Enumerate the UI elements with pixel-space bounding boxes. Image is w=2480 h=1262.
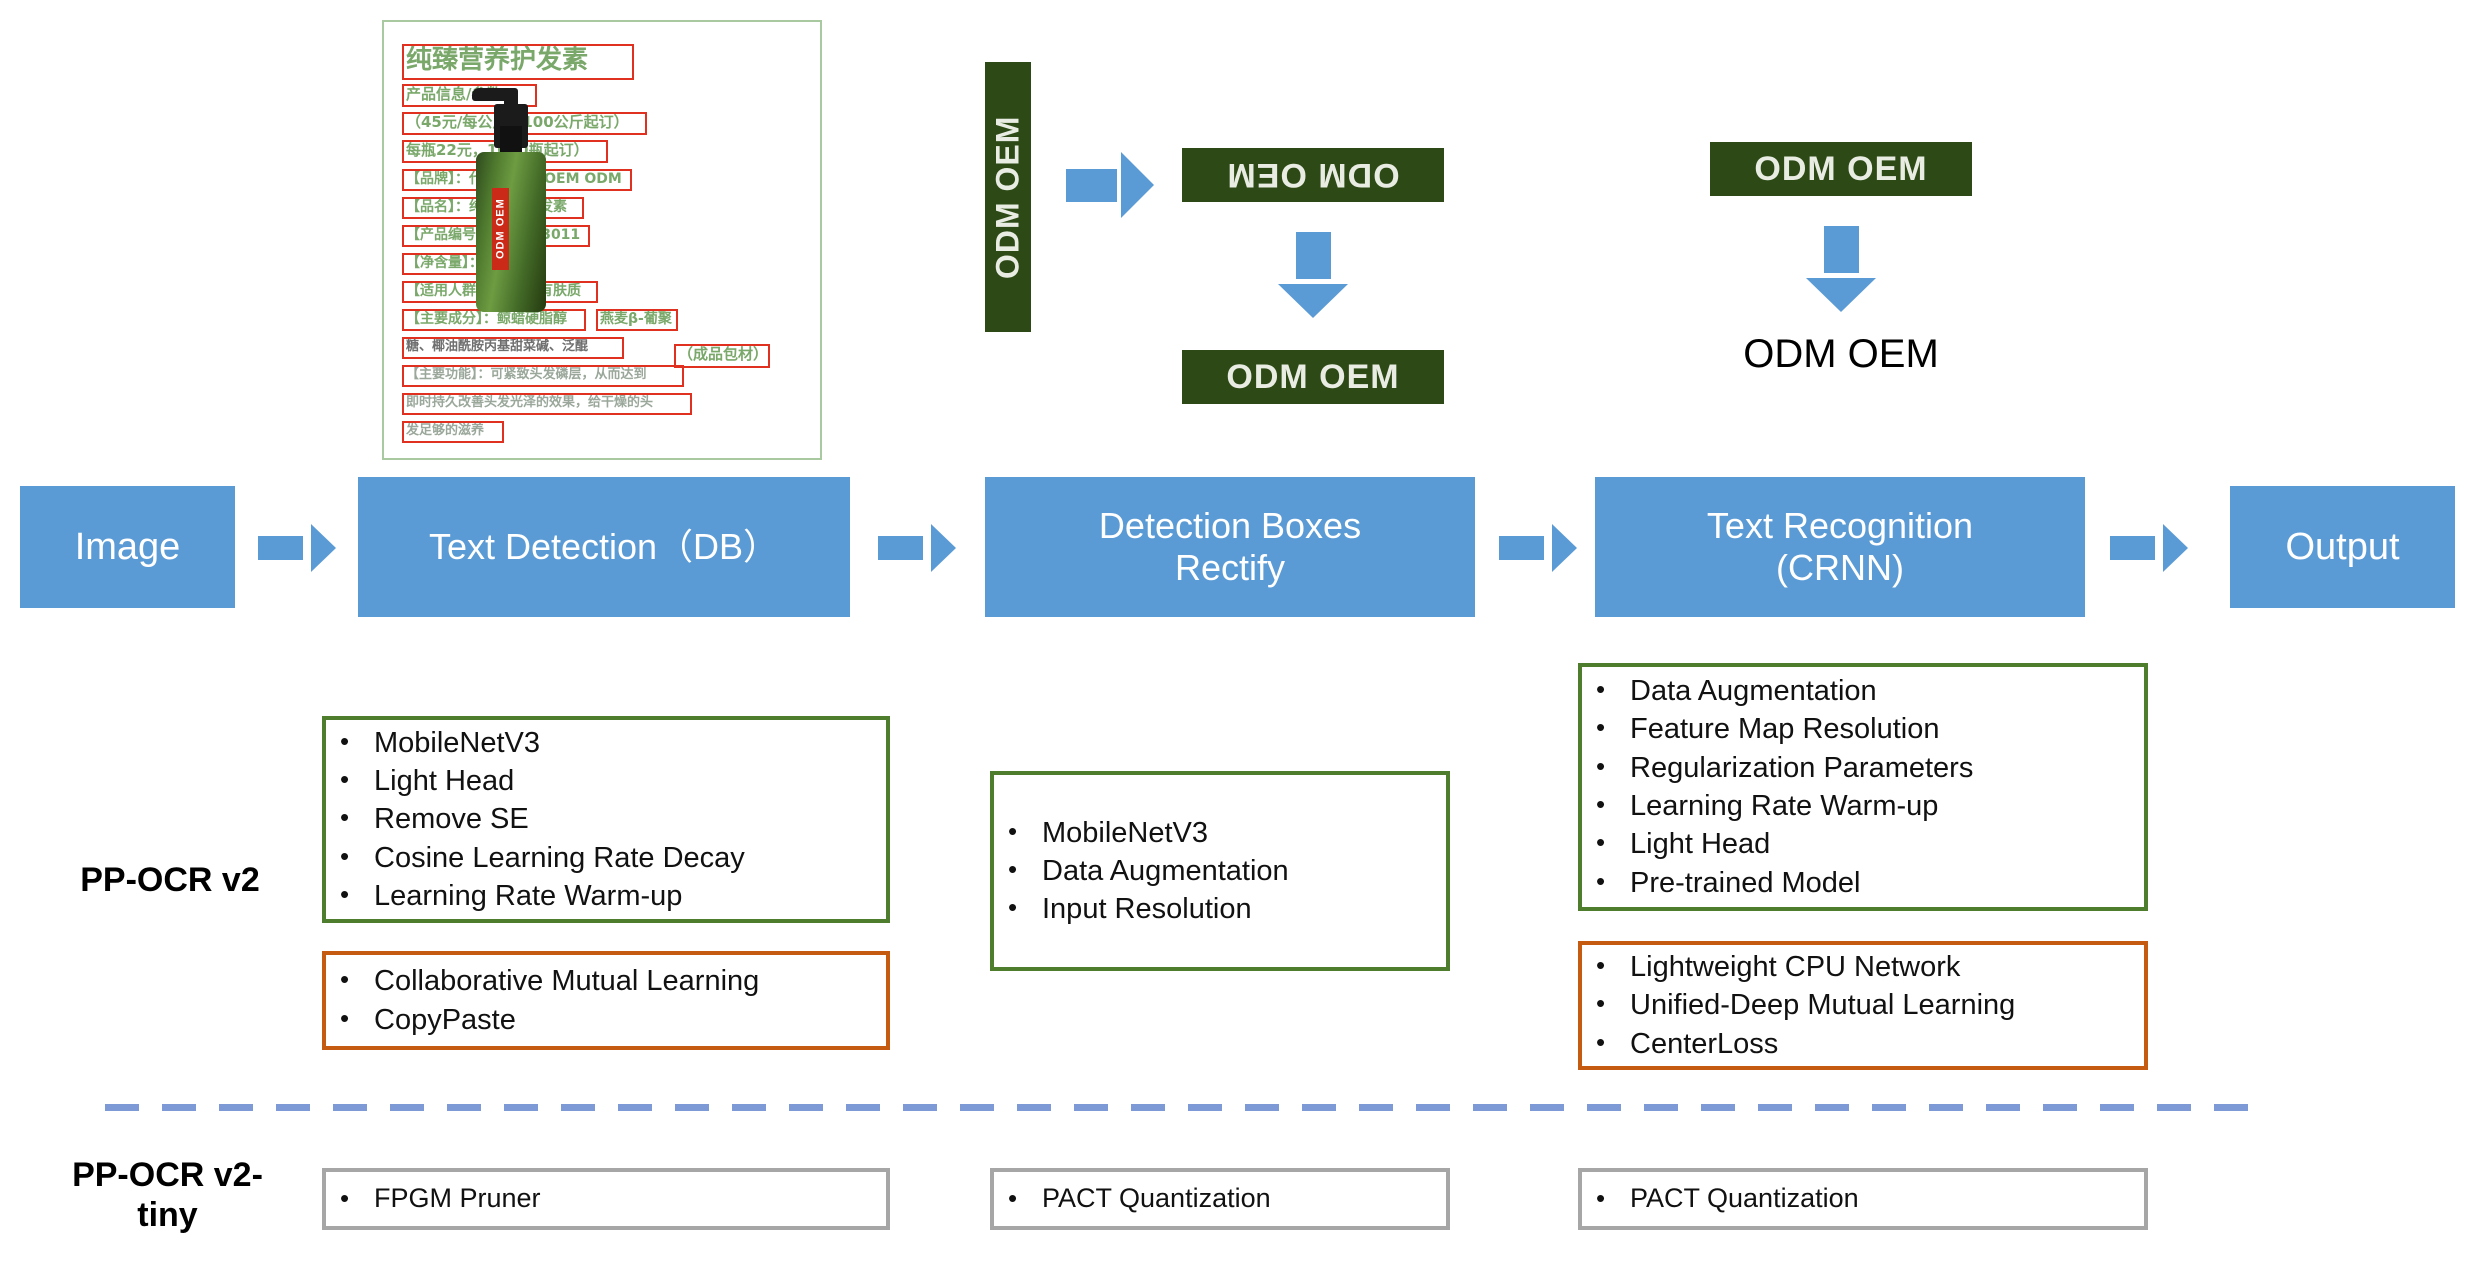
arrow-head	[1121, 152, 1154, 218]
strategy-item-label: Data Augmentation	[1630, 672, 1877, 710]
arrow-shaft	[1296, 232, 1331, 279]
strategy-item-label: Light Head	[374, 762, 514, 800]
strategy-box-recognition-green: •Data Augmentation•Feature Map Resolutio…	[1578, 663, 2148, 911]
bullet-icon: •	[1596, 710, 1630, 746]
recognized-text-output: ODM OEM	[1706, 328, 1976, 380]
arrow-recognition-to-output	[2110, 524, 2188, 572]
pipeline-box-text-recognition[interactable]: Text Recognition (CRNN)	[1595, 477, 2085, 617]
strategy-list-item: •CenterLoss	[1596, 1025, 2128, 1063]
arrow-shaft	[258, 536, 303, 560]
bullet-icon: •	[340, 724, 374, 760]
crop-flipped-odm-oem: ODM OEM	[1182, 148, 1444, 202]
bullet-icon: •	[1008, 890, 1042, 926]
bullet-icon: •	[340, 800, 374, 836]
strategy-list-item: •Light Head	[1596, 825, 2128, 863]
strategy-list-item: •Data Augmentation	[1596, 672, 2128, 710]
arrow-head	[2163, 524, 2188, 572]
strategy-list-item: •Unified-Deep Mutual Learning	[1596, 986, 2128, 1024]
arrow-shaft	[2110, 536, 2155, 560]
strategy-item-label: Lightweight CPU Network	[1630, 948, 1960, 986]
pipeline-box-rectify-line2: Rectify	[1099, 547, 1361, 589]
strategy-list: •Data Augmentation•Feature Map Resolutio…	[1596, 672, 2128, 902]
strategy-list: •FPGM Pruner	[340, 1181, 870, 1217]
strategy-item-label: MobileNetV3	[374, 724, 540, 762]
bullet-icon: •	[1596, 1025, 1630, 1061]
bullet-icon: •	[340, 877, 374, 913]
strategy-list-item: •Data Augmentation	[1008, 852, 1430, 890]
bullet-icon: •	[1008, 814, 1042, 850]
strategy-item-label: Feature Map Resolution	[1630, 710, 1940, 748]
ocr-detection-box: （成品包材）	[674, 344, 770, 368]
pipeline-box-image[interactable]: Image	[20, 486, 235, 608]
arrow-rectify-to-recognition	[1499, 524, 1577, 572]
product-bottle-illustration: ODM OEM	[464, 70, 556, 320]
crop-recognition-input-odm-oem: ODM OEM	[1710, 142, 1972, 196]
bullet-icon: •	[340, 962, 374, 998]
bullet-icon: •	[1596, 825, 1630, 861]
row-label-ppocr-v2: PP-OCR v2	[40, 860, 300, 900]
product-image-sample: 纯臻营养护发素产品信息/参数（45元/每公斤，100公斤起订）每瓶22元，100…	[382, 20, 822, 460]
arrow-shaft	[1499, 536, 1544, 560]
arrow-down-middle	[1278, 232, 1348, 318]
arrow-detection-to-rectify	[878, 524, 956, 572]
pipeline-box-recognition-line2: (CRNN)	[1707, 547, 1973, 589]
arrow-image-to-detection	[258, 524, 336, 572]
strategy-box-tiny-rectify: •PACT Quantization	[990, 1168, 1450, 1230]
strategy-list-item: •FPGM Pruner	[340, 1181, 870, 1217]
bottle-body	[476, 152, 546, 312]
strategy-box-recognition-orange: •Lightweight CPU Network•Unified-Deep Mu…	[1578, 941, 2148, 1070]
strategy-list-item: •CopyPaste	[340, 1001, 870, 1039]
strategy-list-item: •Input Resolution	[1008, 890, 1430, 928]
ocr-detection-box: 燕麦β-葡聚	[596, 309, 678, 331]
bullet-icon: •	[1596, 986, 1630, 1022]
strategy-list-item: •Remove SE	[340, 800, 870, 838]
bullet-icon: •	[340, 839, 374, 875]
bullet-icon: •	[1596, 1181, 1630, 1217]
strategy-list-item: •Regularization Parameters	[1596, 749, 2128, 787]
strategy-list: •MobileNetV3•Data Augmentation•Input Res…	[1008, 814, 1430, 929]
bullet-icon: •	[1596, 864, 1630, 900]
strategy-box-detection-green: •MobileNetV3•Light Head•Remove SE•Cosine…	[322, 716, 890, 923]
strategy-box-detection-orange: •Collaborative Mutual Learning•CopyPaste	[322, 951, 890, 1050]
bullet-icon: •	[340, 1181, 374, 1217]
bullet-icon: •	[340, 762, 374, 798]
bottle-neck	[500, 126, 522, 154]
strategy-item-label: Data Augmentation	[1042, 852, 1289, 890]
strategy-list-item: •Light Head	[340, 762, 870, 800]
arrow-shaft	[1066, 169, 1117, 202]
arrow-shaft	[878, 536, 923, 560]
strategy-list-item: •Cosine Learning Rate Decay	[340, 839, 870, 877]
arrow-down-right	[1806, 226, 1876, 312]
strategy-item-label: Pre-trained Model	[1630, 864, 1861, 902]
ocr-detection-box: 【主要功能】：可紧致头发磷层，从而达到	[402, 365, 684, 387]
strategy-list-item: •MobileNetV3	[340, 724, 870, 762]
strategy-box-rectify-green: •MobileNetV3•Data Augmentation•Input Res…	[990, 771, 1450, 971]
strategy-item-label: CenterLoss	[1630, 1025, 1778, 1063]
row-label-tiny-line2: tiny	[40, 1195, 295, 1235]
strategy-item-label: MobileNetV3	[1042, 814, 1208, 852]
arrow-head	[1806, 278, 1876, 312]
pipeline-box-detection-boxes-rectify[interactable]: Detection Boxes Rectify	[985, 477, 1475, 617]
bullet-icon: •	[340, 1001, 374, 1037]
crop-rectified-odm-oem: ODM OEM	[1182, 350, 1444, 404]
strategy-item-label: Cosine Learning Rate Decay	[374, 839, 745, 877]
strategy-list-item: •Learning Rate Warm-up	[1596, 787, 2128, 825]
strategy-list-item: •PACT Quantization	[1008, 1181, 1430, 1217]
row-label-ppocr-v2-tiny: PP-OCR v2- tiny	[40, 1155, 295, 1235]
strategy-list: •PACT Quantization	[1596, 1181, 2128, 1217]
strategy-list-item: •PACT Quantization	[1596, 1181, 2128, 1217]
arrow-right-rectify	[1066, 152, 1154, 218]
crop-vertical-odm-oem: ODM OEM	[985, 62, 1031, 332]
strategy-list: •PACT Quantization	[1008, 1181, 1430, 1217]
strategy-item-label: PACT Quantization	[1042, 1181, 1271, 1217]
ocr-detection-box: 即时持久改善头发光泽的效果，给干燥的头	[402, 393, 692, 415]
arrow-head	[1552, 524, 1577, 572]
strategy-item-label: CopyPaste	[374, 1001, 516, 1039]
pipeline-box-rectify-line1: Detection Boxes	[1099, 505, 1361, 547]
bullet-icon: •	[1596, 787, 1630, 823]
arrow-shaft	[1824, 226, 1859, 273]
bottle-label: ODM OEM	[492, 188, 509, 270]
strategy-list: •Collaborative Mutual Learning•CopyPaste	[340, 962, 870, 1039]
strategy-item-label: Unified-Deep Mutual Learning	[1630, 986, 2015, 1024]
pipeline-box-output[interactable]: Output	[2230, 486, 2455, 608]
pipeline-box-recognition-line1: Text Recognition	[1707, 505, 1973, 547]
strategy-box-tiny-detection: •FPGM Pruner	[322, 1168, 890, 1230]
strategy-list-item: •Feature Map Resolution	[1596, 710, 2128, 748]
bullet-icon: •	[1596, 749, 1630, 785]
strategy-list-item: •MobileNetV3	[1008, 814, 1430, 852]
strategy-item-label: Learning Rate Warm-up	[374, 877, 682, 915]
arrow-head	[931, 524, 956, 572]
strategy-list: •Lightweight CPU Network•Unified-Deep Mu…	[1596, 948, 2128, 1063]
strategy-item-label: Collaborative Mutual Learning	[374, 962, 759, 1000]
bullet-icon: •	[1596, 948, 1630, 984]
strategy-list-item: •Lightweight CPU Network	[1596, 948, 2128, 986]
bullet-icon: •	[1008, 1181, 1042, 1217]
strategy-item-label: Light Head	[1630, 825, 1770, 863]
strategy-list: •MobileNetV3•Light Head•Remove SE•Cosine…	[340, 724, 870, 915]
strategy-list-item: •Pre-trained Model	[1596, 864, 2128, 902]
strategy-list-item: •Learning Rate Warm-up	[340, 877, 870, 915]
arrow-head	[1278, 284, 1348, 318]
ocr-detection-box: 发足够的滋养	[402, 421, 504, 443]
pipeline-box-text-detection[interactable]: Text Detection（DB）	[358, 477, 850, 617]
ocr-detection-box: 糖、椰油酰胺丙基甜菜碱、泛醌	[402, 337, 624, 359]
strategy-item-label: Remove SE	[374, 800, 529, 838]
strategy-list-item: •Collaborative Mutual Learning	[340, 962, 870, 1000]
strategy-item-label: Learning Rate Warm-up	[1630, 787, 1938, 825]
section-divider	[105, 1104, 2270, 1111]
bullet-icon: •	[1596, 672, 1630, 708]
strategy-item-label: FPGM Pruner	[374, 1181, 541, 1217]
strategy-item-label: PACT Quantization	[1630, 1181, 1859, 1217]
strategy-box-tiny-recognition: •PACT Quantization	[1578, 1168, 2148, 1230]
row-label-tiny-line1: PP-OCR v2-	[40, 1155, 295, 1195]
strategy-item-label: Input Resolution	[1042, 890, 1252, 928]
bullet-icon: •	[1008, 852, 1042, 888]
arrow-head	[311, 524, 336, 572]
strategy-item-label: Regularization Parameters	[1630, 749, 1973, 787]
